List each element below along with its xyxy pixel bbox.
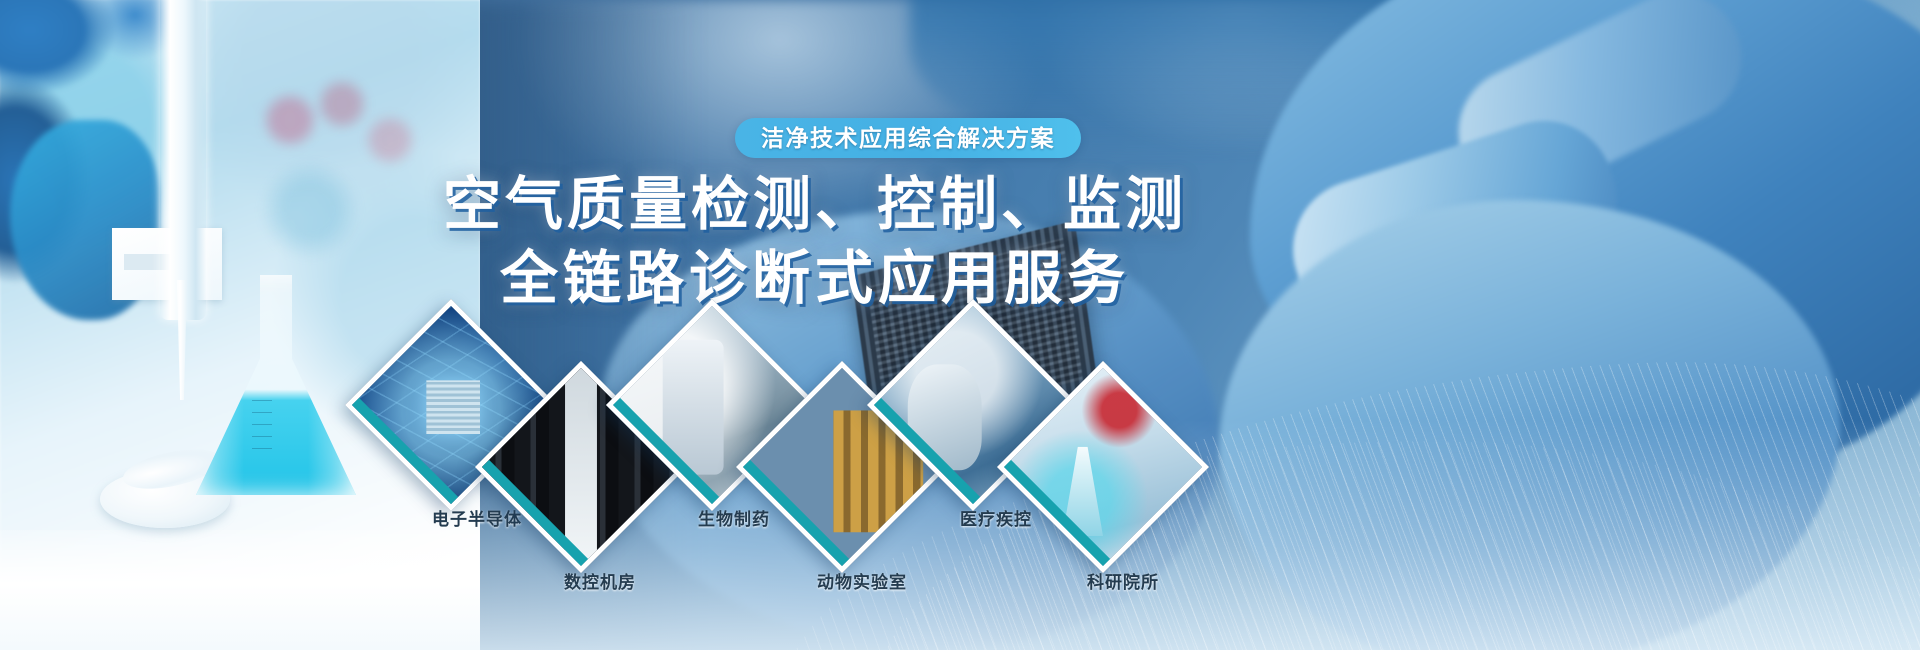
tile-label-data-center: 数控机房 <box>564 568 636 593</box>
industry-tiles: 电子半导体 数控机房 生物制药 动物实验室 医疗疾控 科研院所 <box>0 0 1920 650</box>
tile-label-medical-cdc: 医疗疾控 <box>960 505 1032 530</box>
tile-label-electronics-semiconductor: 电子半导体 <box>432 505 522 530</box>
tile-label-research-institute: 科研院所 <box>1087 568 1159 593</box>
tile-label-biopharma: 生物制药 <box>698 505 770 530</box>
hero-banner: 洁净技术应用综合解决方案 空气质量检测、控制、监测 全链路诊断式应用服务 电子半… <box>0 0 1920 650</box>
tile-label-animal-lab: 动物实验室 <box>817 568 907 593</box>
